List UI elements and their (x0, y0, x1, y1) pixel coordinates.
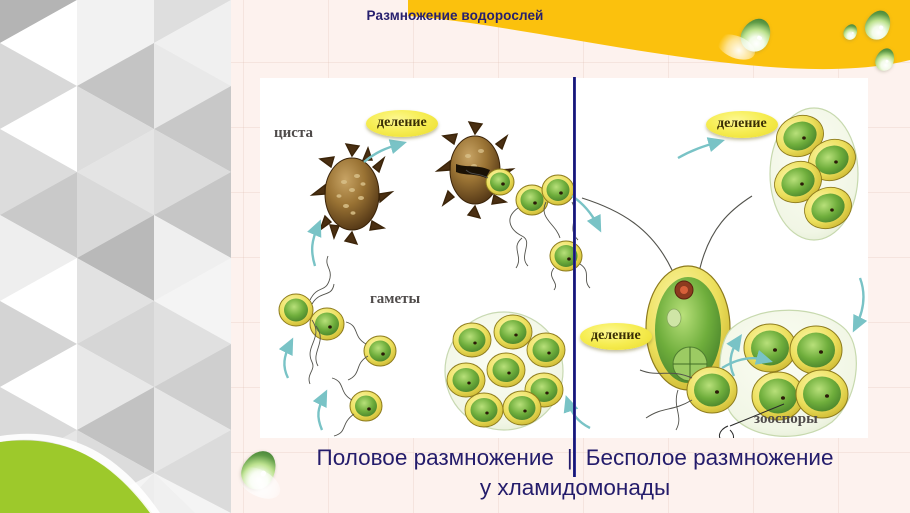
caption-line2: у хламидомонады (250, 473, 900, 503)
gametes-label: гаметы (370, 291, 420, 308)
division-label-lower: деление (580, 323, 652, 350)
diagram-container: циста деление гаметы деление деление зоо… (260, 78, 868, 438)
caption-left: Половое размножение (317, 445, 554, 470)
division-label-top: деление (366, 110, 438, 137)
slide-canvas: Размножение водорослей (0, 0, 910, 513)
life-cycle-artwork (260, 78, 868, 438)
page-title: Размножение водорослей (0, 8, 910, 23)
zoospores-label: зооспоры (754, 411, 818, 428)
caption-right: Бесполое размножение (586, 445, 834, 470)
caption-separator: | (567, 445, 573, 470)
division-label-upper-right: деление (706, 111, 778, 138)
slide-caption: Половое размножение|Бесполое размножение… (250, 443, 900, 503)
cyst-label: циста (274, 125, 313, 142)
section-divider (573, 77, 576, 477)
